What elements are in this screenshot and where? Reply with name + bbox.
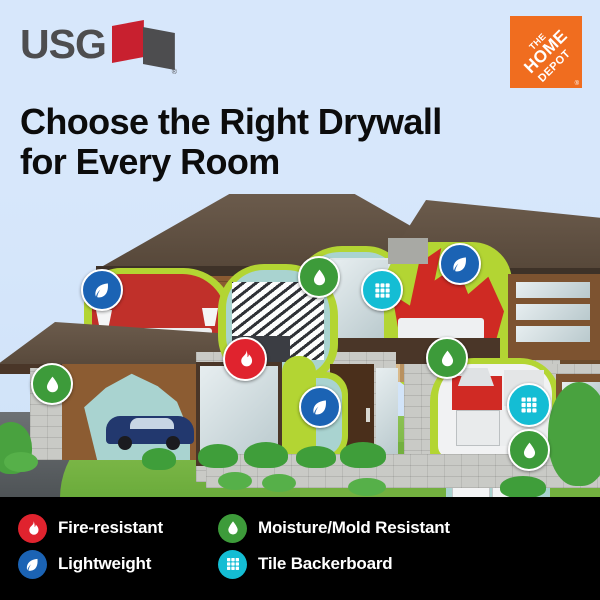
- shrub-8: [142, 448, 176, 470]
- badge-kitchen-tile[interactable]: [507, 383, 551, 427]
- fire-icon: [18, 514, 47, 543]
- garage-car-wheel-left: [118, 436, 132, 450]
- shrub-right-1: [500, 476, 546, 498]
- window-upper-right-2: [516, 304, 590, 320]
- legend-item-lightweight[interactable]: Lightweight: [18, 550, 218, 579]
- shrub-left-1: [4, 452, 38, 472]
- legend-item-moisture-mold[interactable]: Moisture/Mold Resistant: [218, 514, 450, 543]
- drop-icon: [218, 514, 247, 543]
- house-illustration: [0, 186, 600, 498]
- usg-mark-icon: ®: [112, 20, 174, 74]
- page-title-line-2: for Every Room: [20, 142, 540, 182]
- usg-wordmark: USG: [20, 24, 106, 65]
- tree-right: [548, 382, 600, 486]
- leaf-icon: [18, 550, 47, 579]
- front-door-handle: [366, 408, 370, 422]
- badge-living-room-lightweight[interactable]: [439, 243, 481, 285]
- badge-entry-lightweight[interactable]: [299, 386, 341, 428]
- legend-item-fire-resistant[interactable]: Fire-resistant: [18, 514, 218, 543]
- page-title-line-1: Choose the Right Drywall: [20, 102, 540, 142]
- leaf-icon: [92, 280, 112, 300]
- usg-logo: USG ®: [20, 24, 174, 74]
- living-room-chimney: [388, 238, 428, 264]
- front-door-sidelite: [376, 368, 398, 456]
- shrub-2: [244, 442, 288, 468]
- garage-car-window: [130, 418, 174, 429]
- legend-label-moisture-mold: Moisture/Mold Resistant: [258, 518, 450, 538]
- window-upper-right-1: [516, 282, 590, 298]
- tile-glyph: [225, 556, 241, 572]
- shrub-6: [262, 474, 296, 492]
- leaf-glyph: [24, 556, 41, 573]
- badge-kitchen-moisture[interactable]: [426, 337, 468, 379]
- drop-glyph: [225, 520, 241, 536]
- usg-mark-gray-panel: [143, 27, 175, 70]
- tile-icon: [373, 281, 392, 300]
- fire-icon: [235, 349, 255, 369]
- badge-garage-moisture[interactable]: [31, 363, 73, 405]
- badge-laundry-moisture[interactable]: [508, 429, 550, 471]
- usg-mark-red-panel: [112, 20, 144, 63]
- tile-icon: [519, 395, 539, 415]
- garage-car-wheel-right: [166, 436, 180, 450]
- badge-bedroom-lightweight[interactable]: [81, 269, 123, 311]
- home-depot-logo-inner: THE HOME DEPOT: [510, 16, 582, 88]
- shrub-7: [348, 478, 386, 496]
- leaf-icon: [450, 254, 470, 274]
- fire-glyph: [24, 520, 41, 537]
- leaf-icon: [310, 397, 330, 417]
- legend-label-fire-resistant: Fire-resistant: [58, 518, 163, 538]
- shrub-4: [340, 442, 386, 468]
- badge-shower-tile[interactable]: [361, 269, 403, 311]
- legend-item-tile-backerboard[interactable]: Tile Backerboard: [218, 550, 450, 579]
- drop-icon: [310, 268, 329, 287]
- home-depot-registered-mark: ®: [575, 81, 579, 87]
- shrub-5: [218, 472, 252, 490]
- legend-bar: Fire-resistant Moisture/Mold Resistant L…: [0, 497, 600, 600]
- drop-icon: [438, 349, 457, 368]
- shrub-3: [296, 446, 336, 468]
- drop-icon: [43, 375, 62, 394]
- drop-icon: [520, 441, 539, 460]
- shrub-1: [198, 444, 238, 468]
- badge-bathroom-moisture[interactable]: [298, 256, 340, 298]
- legend-label-tile-backerboard: Tile Backerboard: [258, 554, 392, 574]
- poster: USG ® THE HOME DEPOT ® Choose the Right …: [0, 0, 600, 600]
- kitchen-range: [456, 410, 500, 446]
- badge-stairwell-fire[interactable]: [223, 337, 267, 381]
- page-title: Choose the Right Drywall for Every Room: [20, 102, 540, 182]
- home-depot-logo: THE HOME DEPOT ®: [510, 16, 582, 88]
- window-upper-right-3: [516, 326, 590, 342]
- usg-registered-mark: ®: [172, 69, 177, 76]
- legend-grid: Fire-resistant Moisture/Mold Resistant L…: [18, 510, 450, 582]
- legend-label-lightweight: Lightweight: [58, 554, 151, 574]
- tile-icon: [218, 550, 247, 579]
